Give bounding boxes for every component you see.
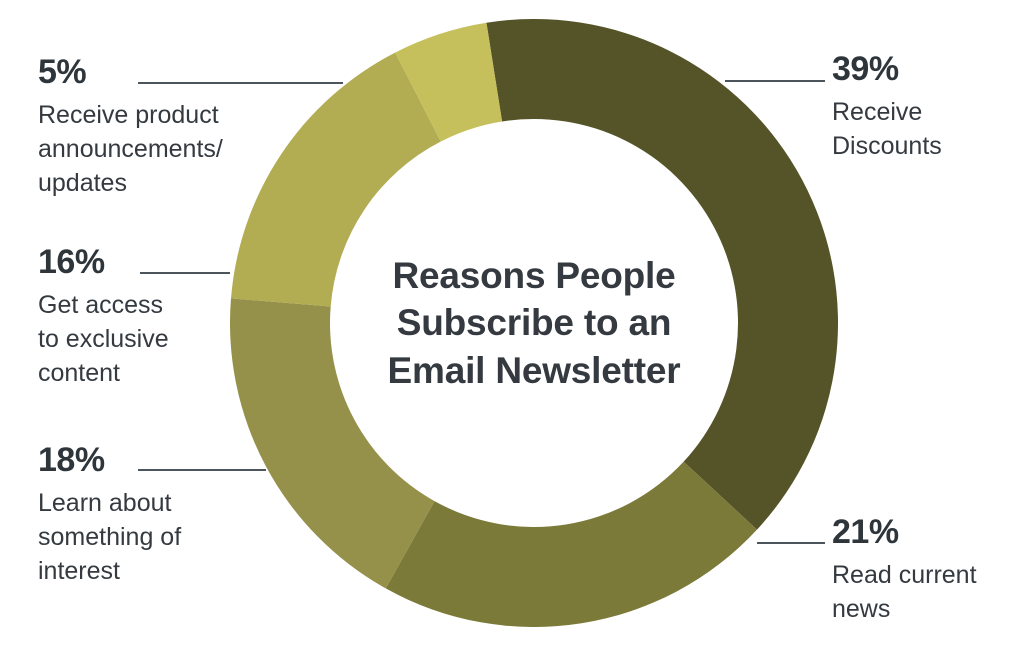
callout-percent-exclusive-content: 16%	[38, 245, 238, 279]
callout-label-read-current-news: Read current news	[832, 558, 1022, 626]
callout-label-line-3: interest	[38, 554, 248, 588]
callout-learn-something-of-interest[interactable]: 18% Learn about something of interest	[38, 443, 248, 588]
donut-slices	[230, 19, 838, 627]
callout-label-product-announcements: Receive product announcements/ updates	[38, 98, 288, 200]
callout-label-exclusive-content: Get access to exclusive content	[38, 288, 238, 390]
callout-exclusive-content[interactable]: 16% Get access to exclusive content	[38, 245, 238, 390]
callout-label-line-2: announcements/	[38, 132, 288, 166]
callout-label-line-1: Get access	[38, 288, 238, 322]
callout-label-receive-discounts: Receive Discounts	[832, 95, 1022, 163]
callout-label-learn-something-of-interest: Learn about something of interest	[38, 486, 248, 588]
leader-line-read-current-news	[757, 542, 825, 544]
callout-product-announcements[interactable]: 5% Receive product announcements/ update…	[38, 55, 288, 200]
donut-slice-learn-something-of-interest[interactable]	[230, 298, 435, 588]
donut-slice-receive-discounts[interactable]	[486, 19, 838, 530]
callout-label-line-1: Learn about	[38, 486, 248, 520]
callout-label-line-1: Receive	[832, 95, 1022, 129]
callout-label-line-1: Receive product	[38, 98, 288, 132]
callout-percent-learn-something-of-interest: 18%	[38, 443, 248, 477]
callout-label-line-1: Read current	[832, 558, 1022, 592]
donut-slice-read-current-news[interactable]	[386, 462, 757, 627]
callout-percent-read-current-news: 21%	[832, 515, 1022, 549]
callout-percent-receive-discounts: 39%	[832, 52, 1022, 86]
leader-line-receive-discounts	[725, 80, 825, 82]
callout-receive-discounts[interactable]: 39% Receive Discounts	[832, 52, 1022, 163]
donut-chart-infographic: Reasons People Subscribe to an Email New…	[0, 0, 1024, 646]
callout-label-line-3: content	[38, 356, 238, 390]
donut-chart	[230, 19, 838, 627]
donut-svg	[230, 19, 838, 627]
callout-label-line-2: something of	[38, 520, 248, 554]
callout-label-line-2: to exclusive	[38, 322, 238, 356]
callout-label-line-2: news	[832, 592, 1022, 626]
callout-read-current-news[interactable]: 21% Read current news	[832, 515, 1022, 626]
callout-percent-product-announcements: 5%	[38, 55, 288, 89]
callout-label-line-2: Discounts	[832, 129, 1022, 163]
callout-label-line-3: updates	[38, 166, 288, 200]
